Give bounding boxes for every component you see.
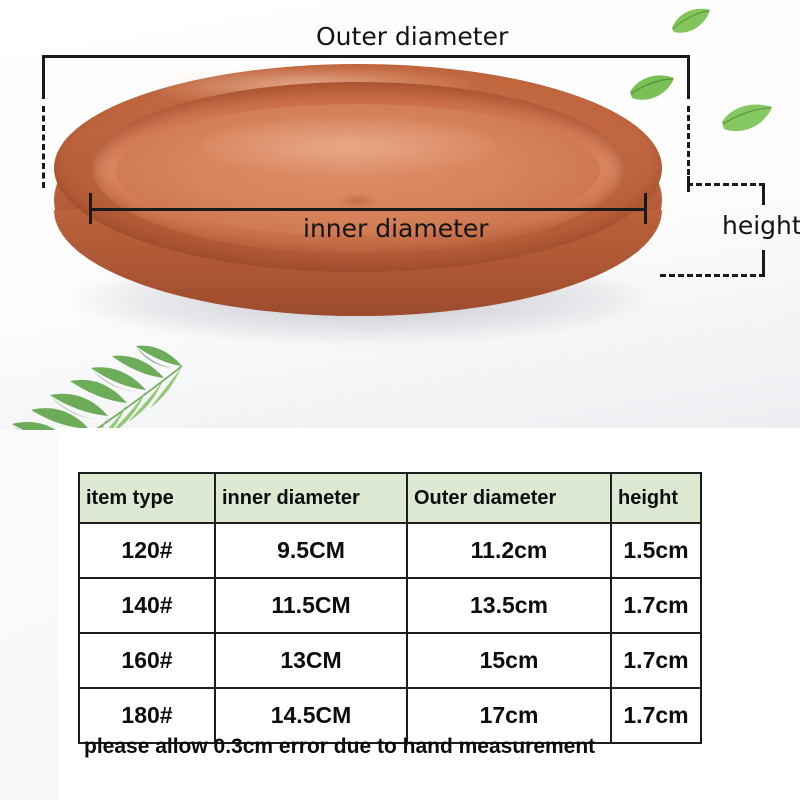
cell-inner-diameter: 13CM <box>215 633 407 688</box>
outer-diameter-bracket-top <box>42 55 690 58</box>
table-row: 160# 13CM 15cm 1.7cm <box>79 633 701 688</box>
cell-height: 1.5cm <box>611 523 701 578</box>
tray-center-nub <box>338 196 378 208</box>
height-label: height <box>722 211 800 240</box>
inner-diameter-tick-right <box>644 193 647 224</box>
height-bracket-bottom <box>660 274 765 277</box>
height-bracket-left-tick <box>687 176 690 192</box>
inner-diameter-line <box>90 208 646 211</box>
cell-inner-diameter: 11.5CM <box>215 578 407 633</box>
column-header-item-type: item type <box>79 473 215 523</box>
cell-item-type: 140# <box>79 578 215 633</box>
height-bracket-right-lower <box>762 250 765 277</box>
outer-diameter-bracket-left-dashed <box>42 106 45 188</box>
column-header-outer-diameter: Outer diameter <box>407 473 611 523</box>
cell-outer-diameter: 13.5cm <box>407 578 611 633</box>
cell-height: 1.7cm <box>611 688 701 743</box>
palm-frond-icon <box>0 330 201 430</box>
cell-height: 1.7cm <box>611 633 701 688</box>
plant-saucer-illustration <box>48 60 668 330</box>
tray-floor-highlight <box>198 118 498 174</box>
cell-outer-diameter: 15cm <box>407 633 611 688</box>
outer-diameter-bracket-left-solid <box>42 55 45 99</box>
cell-outer-diameter: 11.2cm <box>407 523 611 578</box>
inner-diameter-label: inner diameter <box>303 214 489 243</box>
outer-diameter-bracket-right-dashed <box>687 106 690 184</box>
measurement-note: please allow 0.3cm error due to hand mea… <box>84 735 595 759</box>
cell-item-type: 120# <box>79 523 215 578</box>
outer-diameter-bracket-right-solid <box>687 55 690 99</box>
product-spec-infographic: Outer diameter inner diameter height ite… <box>0 0 800 800</box>
cell-inner-diameter: 9.5CM <box>215 523 407 578</box>
cell-height: 1.7cm <box>611 578 701 633</box>
leaf-icon <box>668 4 714 38</box>
table-row: 120# 9.5CM 11.2cm 1.5cm <box>79 523 701 578</box>
height-bracket-top <box>687 183 765 186</box>
inner-diameter-tick-left <box>89 193 92 224</box>
height-bracket-right-upper <box>762 183 765 205</box>
column-header-height: height <box>611 473 701 523</box>
table-header-row: item type inner diameter Outer diameter … <box>79 473 701 523</box>
outer-diameter-label: Outer diameter <box>311 22 513 51</box>
table-row: 140# 11.5CM 13.5cm 1.7cm <box>79 578 701 633</box>
product-photo-area: Outer diameter inner diameter height <box>0 0 800 430</box>
specification-table: item type inner diameter Outer diameter … <box>78 472 702 744</box>
leaf-icon <box>719 100 775 138</box>
cell-item-type: 160# <box>79 633 215 688</box>
column-header-inner-diameter: inner diameter <box>215 473 407 523</box>
